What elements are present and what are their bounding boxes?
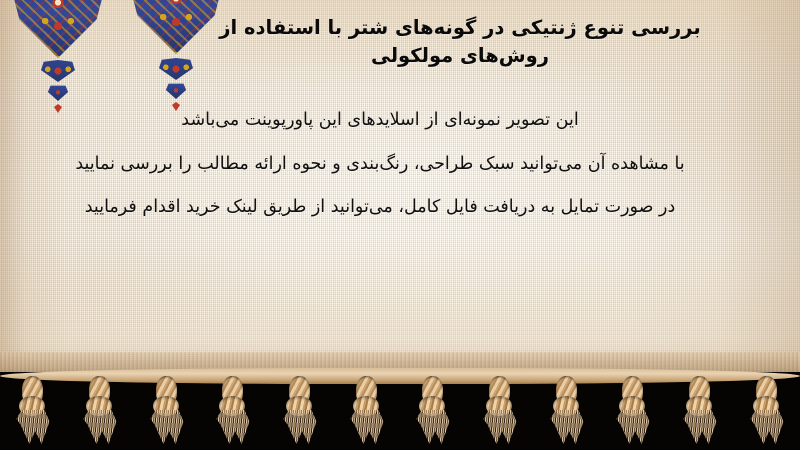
tassel [413, 376, 453, 446]
tassel [547, 376, 587, 446]
body-line-2: با مشاهده آن می‌توانید سبک طراحی، رنگ‌بن… [40, 156, 720, 174]
pendant-dot-icon [172, 102, 180, 111]
tassel-skirt-icon [482, 410, 518, 444]
body-line-3: در صورت تمایل به دریافت فایل کامل، می‌تو… [40, 199, 720, 217]
tassel [80, 376, 120, 446]
tassel-skirt-icon [415, 410, 451, 444]
tassel-skirt-icon [349, 410, 385, 444]
tassel-skirt-icon [749, 410, 785, 444]
tassel-skirt-icon [682, 410, 718, 444]
slide-body: این تصویر نمونه‌ای از اسلایدهای این پاور… [40, 112, 720, 217]
tassel-skirt-icon [282, 410, 318, 444]
tassel [680, 376, 720, 446]
tassel [613, 376, 653, 446]
tassel [347, 376, 387, 446]
tassel-skirt-icon [82, 410, 118, 444]
slide-canvas: بررسی تنوع ژنتیکی در گونه‌های شتر با است… [0, 0, 800, 450]
tassel-skirt-icon [15, 410, 51, 444]
body-line-1: این تصویر نمونه‌ای از اسلایدهای این پاور… [40, 112, 720, 130]
slide-title: بررسی تنوع ژنتیکی در گونه‌های شتر با است… [180, 14, 740, 71]
medallion-pendant-left [41, 60, 75, 113]
tassel-skirt-icon [215, 410, 251, 444]
tassel [280, 376, 320, 446]
tassel [747, 376, 787, 446]
tassel [13, 376, 53, 446]
tassel-skirt-icon [149, 410, 185, 444]
tassel [213, 376, 253, 446]
medallion-body-icon [12, 0, 104, 58]
tassel [147, 376, 187, 446]
tassel [480, 376, 520, 446]
tassel-skirt-icon [549, 410, 585, 444]
persian-medallion-ornament-left [12, 0, 104, 58]
tassel-skirt-icon [615, 410, 651, 444]
pendant-middle-icon [165, 83, 187, 99]
pendant-middle-icon [47, 85, 69, 101]
pendant-top-icon [41, 60, 75, 82]
